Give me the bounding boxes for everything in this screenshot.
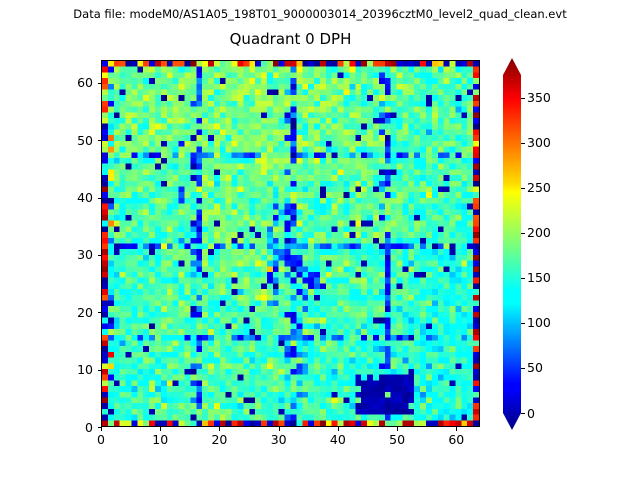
- y-tick-mark: [98, 140, 102, 141]
- y-tick-label: 50: [33, 133, 93, 148]
- x-tick-label: 40: [318, 432, 358, 447]
- x-tick-label: 60: [436, 432, 476, 447]
- colorbar-tick-label: 100: [527, 315, 551, 330]
- colorbar-tick-mark: [521, 323, 525, 324]
- x-tick-label: 30: [259, 432, 299, 447]
- x-tick-label: 20: [199, 432, 239, 447]
- colorbar-gradient: [503, 58, 521, 430]
- colorbar[interactable]: [503, 58, 521, 430]
- colorbar-tick-label: 250: [527, 180, 551, 195]
- y-tick-label: 40: [33, 190, 93, 205]
- colorbar-tick-mark: [521, 233, 525, 234]
- y-tick-mark: [98, 198, 102, 199]
- y-tick-mark: [98, 427, 102, 428]
- x-tick-mark: [160, 427, 161, 431]
- figure-canvas: Data file: modeM0/AS1A05_198T01_90000030…: [0, 0, 640, 480]
- colorbar-tick-mark: [521, 368, 525, 369]
- data-file-suptitle: Data file: modeM0/AS1A05_198T01_90000030…: [0, 7, 640, 21]
- colorbar-tick-label: 0: [527, 406, 535, 421]
- colorbar-tick-mark: [521, 413, 525, 414]
- colorbar-tick-mark: [521, 278, 525, 279]
- y-tick-mark: [98, 312, 102, 313]
- colorbar-tick-label: 50: [527, 360, 543, 375]
- x-tick-mark: [338, 427, 339, 431]
- colorbar-tick-mark: [521, 143, 525, 144]
- heatmap-axes[interactable]: [101, 60, 480, 427]
- colorbar-tick-mark: [521, 98, 525, 99]
- colorbar-tick-label: 150: [527, 270, 551, 285]
- y-tick-label: 0: [33, 420, 93, 435]
- y-tick-label: 20: [33, 305, 93, 320]
- x-tick-mark: [279, 427, 280, 431]
- y-tick-mark: [98, 255, 102, 256]
- y-tick-label: 60: [33, 75, 93, 90]
- y-tick-mark: [98, 370, 102, 371]
- y-tick-label: 30: [33, 247, 93, 262]
- x-tick-mark: [456, 427, 457, 431]
- y-tick-label: 10: [33, 362, 93, 377]
- colorbar-tick-label: 200: [527, 225, 551, 240]
- y-tick-mark: [98, 83, 102, 84]
- colorbar-tick-label: 300: [527, 135, 551, 150]
- detector-heatmap-image[interactable]: [102, 61, 479, 426]
- x-tick-mark: [101, 427, 102, 431]
- x-tick-label: 50: [377, 432, 417, 447]
- x-tick-label: 10: [140, 432, 180, 447]
- x-tick-mark: [397, 427, 398, 431]
- page-title: Quadrant 0 DPH: [101, 30, 480, 48]
- colorbar-tick-mark: [521, 188, 525, 189]
- x-tick-mark: [219, 427, 220, 431]
- colorbar-tick-label: 350: [527, 90, 551, 105]
